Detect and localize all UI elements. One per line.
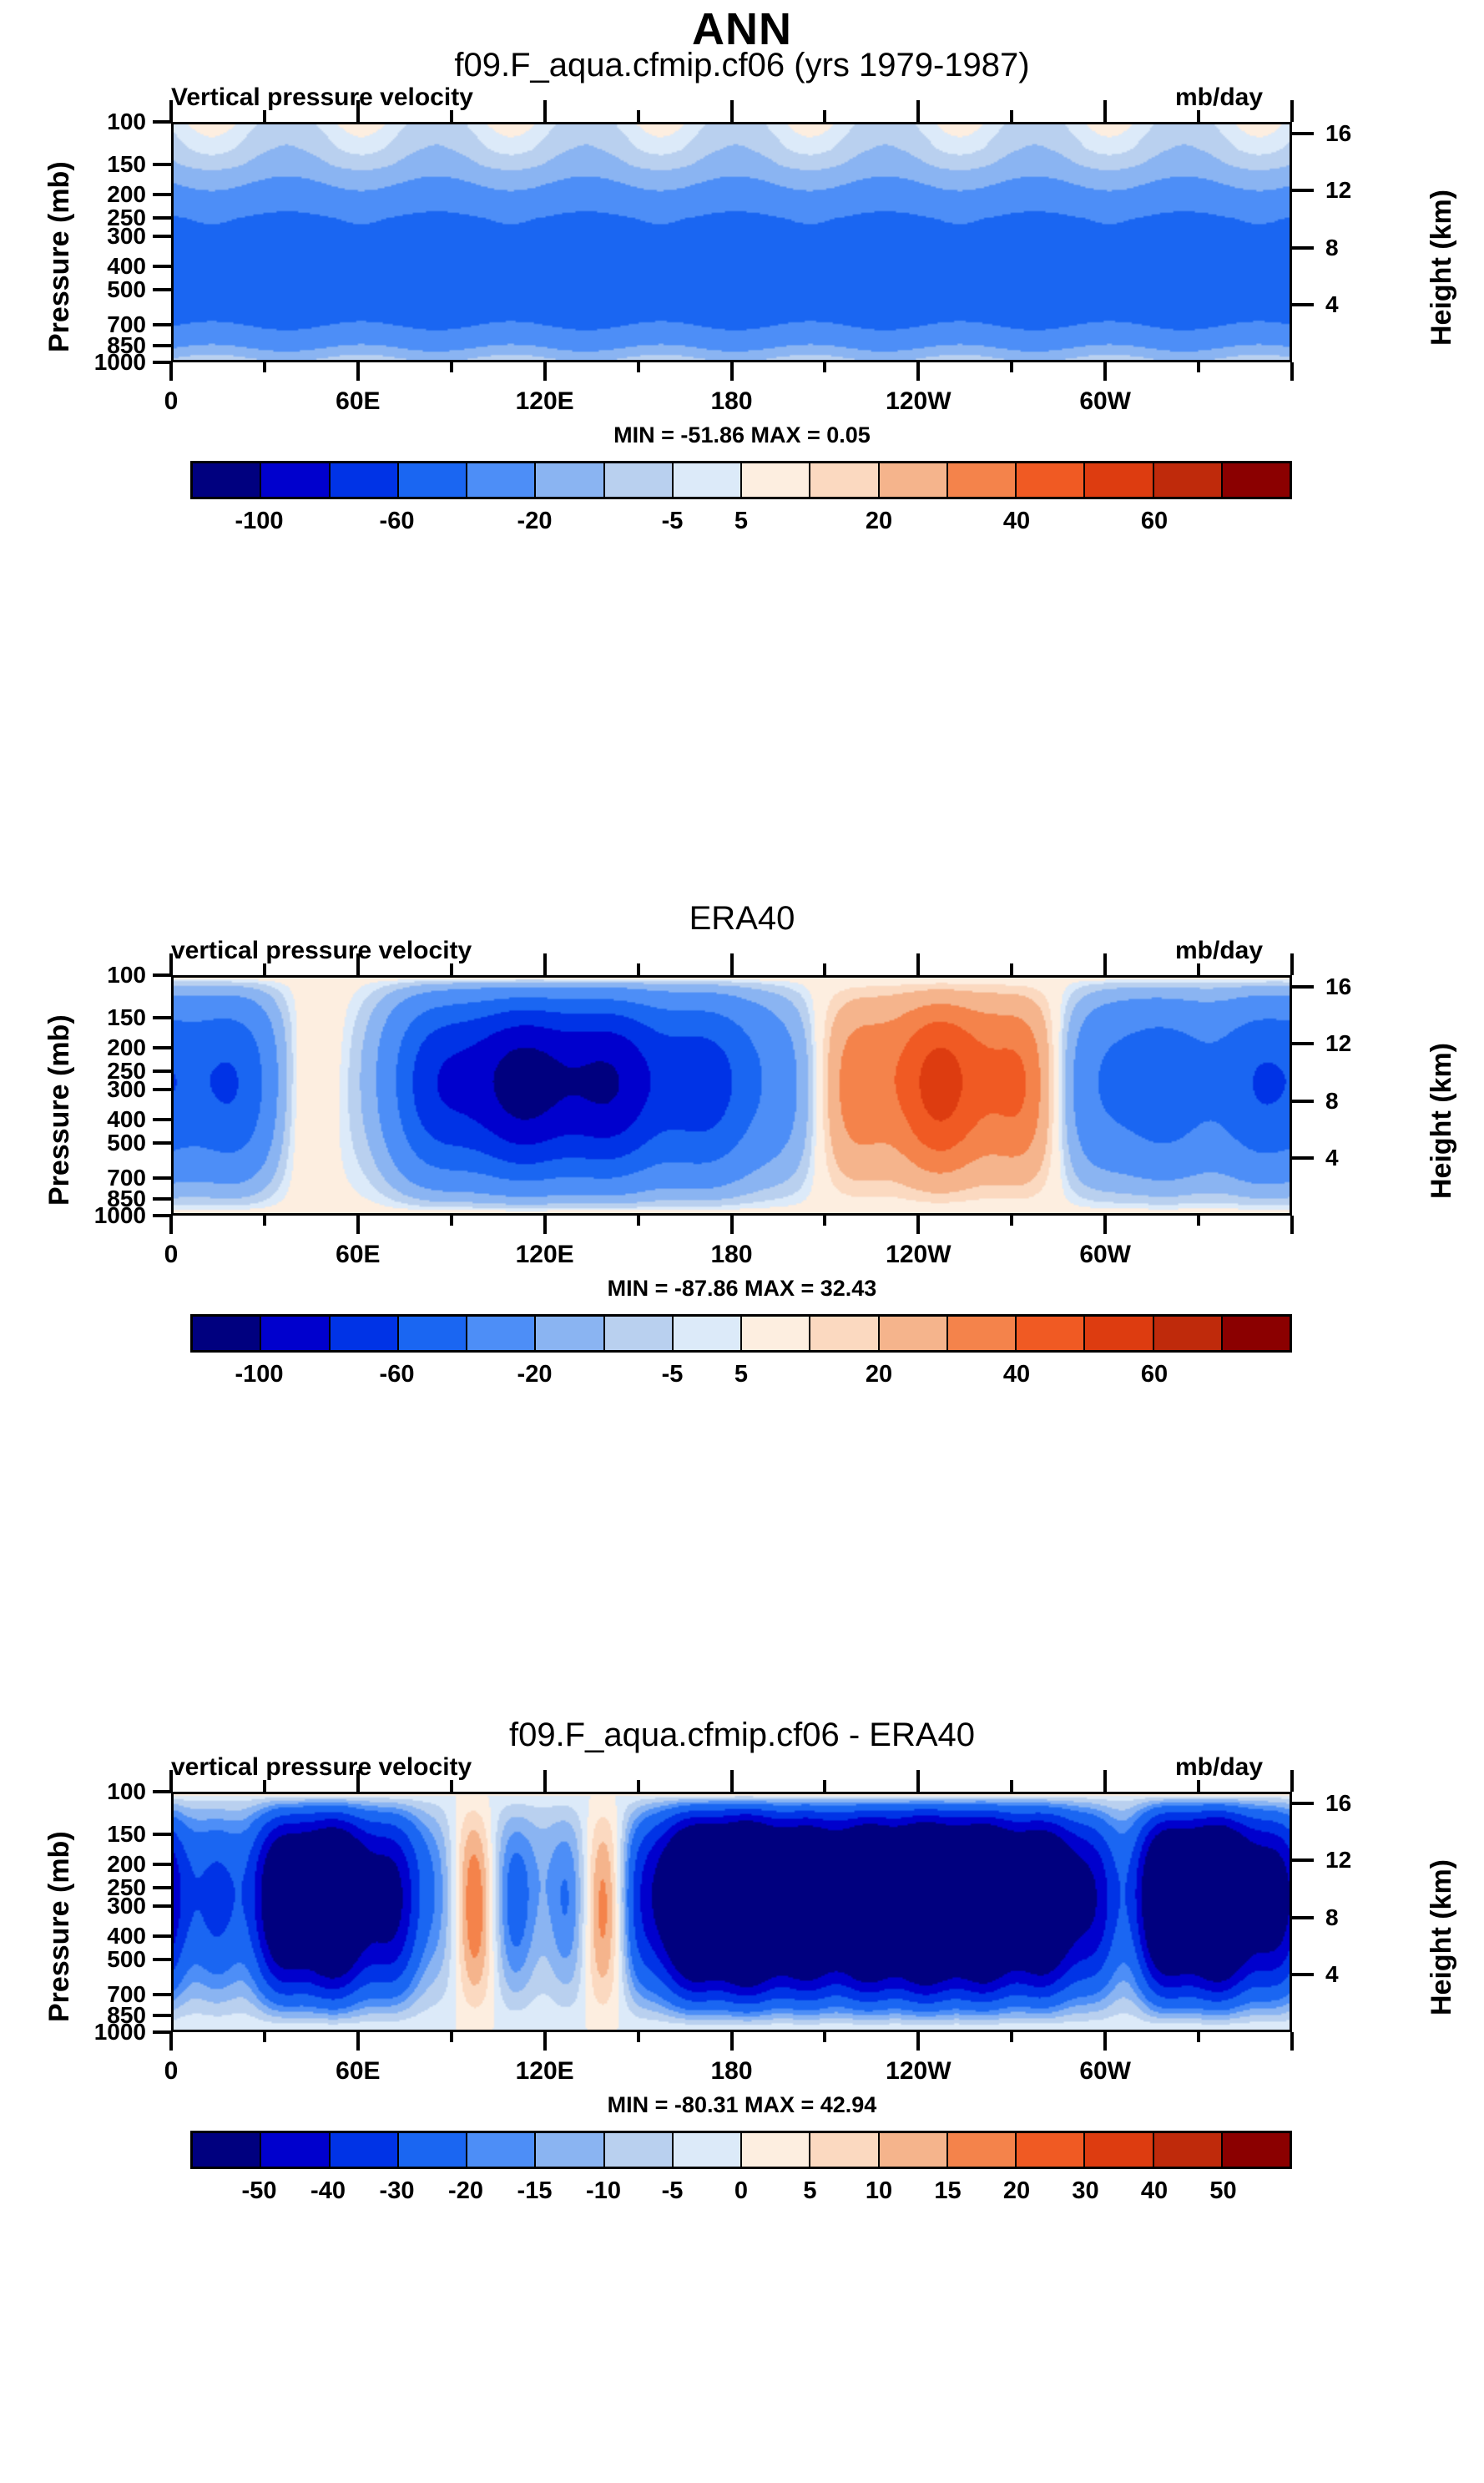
lon-tick-mark-top [263, 963, 266, 975]
lon-tick-mark-bottom [1290, 1216, 1294, 1234]
lon-tick-mark-top [450, 1780, 453, 1792]
lon-tick-mark-bottom [1010, 1216, 1013, 1226]
colorbar-tick-label: 15 [934, 2177, 961, 2205]
height-tick-mark [1292, 246, 1314, 250]
lon-tick-mark-bottom [823, 2032, 826, 2042]
lon-tick-mark-bottom [916, 1216, 920, 1234]
lon-tick-mark-top [263, 110, 266, 122]
lon-tick-mark-bottom [450, 2032, 453, 2042]
lon-tick-mark-top [730, 1770, 734, 1792]
colorbar-tick-label: 20 [866, 508, 892, 535]
colorbar-swatch [1154, 2133, 1223, 2167]
field-label: vertical pressure velocity [171, 1753, 472, 1782]
height-tick-mark [1292, 189, 1314, 192]
colorbar-swatch [742, 1317, 810, 1350]
panel-title: f09.F_aqua.cfmip.cf06 - ERA40 [0, 1717, 1484, 1754]
pressure-tick-mark [153, 1088, 171, 1091]
lon-tick-label: 120W [886, 2057, 951, 2086]
pressure-tick-mark [153, 1046, 171, 1049]
lon-tick-mark-top [916, 953, 920, 975]
colorbar-tick-label: 40 [1141, 2177, 1168, 2205]
right-axis-title: Height (km) [1426, 1859, 1458, 2015]
pressure-tick-mark [153, 1197, 171, 1201]
pressure-tick-mark [153, 344, 171, 347]
colorbar-swatch [331, 1317, 399, 1350]
left-axis-title: Pressure (mb) [43, 1015, 76, 1206]
lon-tick-mark-bottom [637, 1216, 640, 1226]
colorbar-swatch [467, 2133, 536, 2167]
colorbar-tick-label: 20 [1003, 2177, 1030, 2205]
colorbar-tick-label: 5 [734, 1361, 748, 1388]
lon-tick-mark-top [169, 1770, 173, 1792]
colorbar-tick-label: -100 [235, 508, 283, 535]
colorbar-tick-label: 40 [1003, 508, 1030, 535]
colorbar-tick-label: -5 [662, 1361, 684, 1388]
pressure-tick-mark [153, 973, 171, 977]
lon-tick-mark-bottom [730, 2032, 734, 2051]
lon-tick-mark-bottom [1010, 362, 1013, 372]
lon-tick-mark-bottom [450, 362, 453, 372]
lon-tick-mark-top [1197, 1780, 1200, 1792]
height-tick-mark [1292, 1973, 1314, 1976]
lon-tick-mark-bottom [637, 2032, 640, 2042]
pressure-tick-mark [153, 361, 171, 364]
colorbar-tick-label: 0 [734, 2177, 748, 2205]
colorbar-tick-label: 30 [1072, 2177, 1098, 2205]
colorbar-swatch [467, 463, 536, 497]
lon-tick-mark-top [543, 100, 547, 122]
pressure-tick-label: 1000 [38, 2019, 146, 2046]
lon-tick-label: 120E [516, 1241, 574, 1269]
lon-tick-mark-top [1010, 1780, 1013, 1792]
lon-tick-mark-top [1197, 110, 1200, 122]
pressure-tick-mark [153, 1958, 171, 1961]
lon-tick-label: 120E [516, 2057, 574, 2086]
lon-tick-mark-top [543, 953, 547, 975]
colorbar-tick-label: 60 [1141, 1361, 1168, 1388]
contour-plot-area [171, 1792, 1292, 2032]
colorbar-swatch [1223, 1317, 1290, 1350]
lon-tick-mark-bottom [1197, 2032, 1200, 2042]
colorbar-swatch [742, 463, 810, 497]
lon-tick-label: 180 [710, 387, 752, 416]
lon-tick-label: 180 [710, 2057, 752, 2086]
field-label: Vertical pressure velocity [171, 83, 473, 112]
colorbar-tick-label: 10 [866, 2177, 892, 2205]
lon-tick-label: 120E [516, 387, 574, 416]
lon-tick-mark-bottom [916, 2032, 920, 2051]
lon-tick-label: 60E [336, 1241, 380, 1269]
pressure-tick-mark [153, 193, 171, 196]
contour-plot-area [171, 975, 1292, 1216]
contour-plot-area [171, 122, 1292, 362]
colorbar-tick-label: -15 [517, 2177, 553, 2205]
colorbar-swatch [605, 463, 674, 497]
colorbar-swatch [880, 2133, 948, 2167]
lon-tick-mark-top [450, 110, 453, 122]
colorbar-swatch [880, 1317, 948, 1350]
colorbar-swatch [674, 2133, 742, 2167]
colorbar-swatch [810, 2133, 879, 2167]
lon-tick-mark-bottom [543, 362, 547, 381]
lon-tick-mark-bottom [356, 1216, 360, 1234]
lon-tick-label: 180 [710, 1241, 752, 1269]
lon-tick-label: 60W [1079, 1241, 1131, 1269]
colorbar-tick-label: 50 [1209, 2177, 1236, 2205]
lon-tick-mark-bottom [543, 2032, 547, 2051]
colorbar-swatch [399, 463, 467, 497]
lon-tick-label: 60W [1079, 2057, 1131, 2086]
lon-tick-mark-top [356, 100, 360, 122]
height-tick-mark [1292, 1100, 1314, 1103]
colorbar-swatch [1223, 463, 1290, 497]
height-tick-label: 16 [1325, 973, 1351, 1000]
colorbar-swatch [1017, 1317, 1085, 1350]
minmax-label: MIN = -51.86 MAX = 0.05 [0, 422, 1484, 448]
colorbar-swatch [536, 1317, 604, 1350]
lon-tick-mark-top [1103, 1770, 1107, 1792]
lon-tick-mark-bottom [1290, 362, 1294, 381]
pressure-tick-mark [153, 2030, 171, 2034]
lon-tick-mark-top [169, 100, 173, 122]
lon-tick-mark-bottom [356, 362, 360, 381]
colorbar-swatch [1017, 2133, 1085, 2167]
lon-tick-mark-bottom [169, 1216, 173, 1234]
lon-tick-mark-bottom [1197, 362, 1200, 372]
colorbar-swatch [399, 1317, 467, 1350]
colorbar-swatch [331, 463, 399, 497]
lon-tick-mark-bottom [263, 2032, 266, 2042]
colorbar-swatch [1085, 463, 1153, 497]
colorbar-swatch [1154, 463, 1223, 497]
lon-tick-mark-bottom [1010, 2032, 1013, 2042]
colorbar-swatch [674, 1317, 742, 1350]
colorbar-swatch [193, 463, 261, 497]
lon-tick-mark-bottom [450, 1216, 453, 1226]
colorbar-swatch [467, 1317, 536, 1350]
colorbar-swatch [605, 2133, 674, 2167]
pressure-tick-mark [153, 1904, 171, 1908]
pressure-tick-mark [153, 1886, 171, 1889]
lon-tick-mark-top [450, 963, 453, 975]
height-tick-label: 8 [1325, 1088, 1339, 1115]
colorbar-tick-label: -20 [517, 508, 553, 535]
left-axis-title: Pressure (mb) [43, 162, 76, 353]
lon-tick-mark-bottom [1290, 2032, 1294, 2051]
lon-tick-mark-top [637, 110, 640, 122]
height-tick-mark [1292, 1156, 1314, 1160]
colorbar [190, 461, 1292, 499]
height-tick-label: 16 [1325, 120, 1351, 147]
lon-tick-mark-top [1103, 953, 1107, 975]
colorbar-swatch [742, 2133, 810, 2167]
lon-tick-mark-top [1290, 1770, 1294, 1792]
height-tick-label: 12 [1325, 1847, 1351, 1874]
colorbar-swatch [605, 1317, 674, 1350]
height-tick-label: 16 [1325, 1790, 1351, 1817]
lon-tick-mark-top [823, 963, 826, 975]
colorbar-swatch [536, 463, 604, 497]
lon-tick-mark-bottom [823, 362, 826, 372]
pressure-tick-mark [153, 2014, 171, 2017]
colorbar-swatch [261, 463, 330, 497]
lon-tick-mark-bottom [1197, 1216, 1200, 1226]
lon-tick-mark-top [637, 963, 640, 975]
pressure-tick-mark [153, 216, 171, 220]
minmax-label: MIN = -80.31 MAX = 42.94 [0, 2092, 1484, 2118]
lon-tick-mark-top [730, 953, 734, 975]
colorbar-swatch [948, 463, 1017, 497]
colorbar-swatch [1017, 463, 1085, 497]
colorbar-swatch [1154, 1317, 1223, 1350]
height-tick-mark [1292, 1916, 1314, 1919]
lon-tick-mark-bottom [916, 362, 920, 381]
lon-tick-mark-bottom [263, 1216, 266, 1226]
pressure-tick-mark [153, 1176, 171, 1180]
lon-tick-mark-top [543, 1770, 547, 1792]
lon-tick-mark-top [730, 100, 734, 122]
lon-tick-mark-bottom [730, 362, 734, 381]
lon-tick-mark-bottom [356, 2032, 360, 2051]
height-tick-label: 4 [1325, 1145, 1339, 1171]
lon-tick-mark-top [169, 953, 173, 975]
colorbar-tick-label: -100 [235, 1361, 283, 1388]
pressure-tick-mark [153, 1118, 171, 1121]
colorbar-swatch [331, 2133, 399, 2167]
colorbar-tick-label: 20 [866, 1361, 892, 1388]
pressure-tick-mark [153, 288, 171, 291]
pressure-tick-mark [153, 120, 171, 124]
colorbar-swatch [1223, 2133, 1290, 2167]
pressure-tick-mark [153, 1863, 171, 1866]
lon-tick-label: 120W [886, 1241, 951, 1269]
lon-tick-mark-bottom [823, 1216, 826, 1226]
height-tick-label: 12 [1325, 1030, 1351, 1057]
height-tick-label: 12 [1325, 177, 1351, 204]
colorbar-swatch [536, 2133, 604, 2167]
colorbar-tick-label: -20 [448, 2177, 483, 2205]
colorbar-tick-label: -5 [662, 2177, 684, 2205]
pressure-tick-label: 100 [38, 1778, 146, 1805]
lon-tick-mark-top [263, 1780, 266, 1792]
panel-title: ERA40 [0, 900, 1484, 938]
left-axis-title: Pressure (mb) [43, 1832, 76, 2023]
lon-tick-label: 0 [164, 2057, 179, 2086]
lon-tick-mark-bottom [1103, 362, 1107, 381]
lon-tick-mark-top [1010, 110, 1013, 122]
colorbar-tick-label: -60 [380, 1361, 415, 1388]
right-axis-title: Height (km) [1426, 190, 1458, 346]
lon-tick-label: 60E [336, 2057, 380, 2086]
colorbar-tick-label: -40 [310, 2177, 346, 2205]
lon-tick-mark-bottom [730, 1216, 734, 1234]
lon-tick-mark-top [1010, 963, 1013, 975]
colorbar-swatch [810, 463, 879, 497]
colorbar [190, 1314, 1292, 1353]
pressure-tick-mark [153, 235, 171, 238]
lon-tick-mark-top [916, 100, 920, 122]
colorbar-tick-label: 40 [1003, 1361, 1030, 1388]
height-tick-label: 8 [1325, 1904, 1339, 1931]
lon-tick-mark-top [1197, 963, 1200, 975]
units-label: mb/day [1175, 937, 1263, 965]
colorbar-tick-label: 60 [1141, 508, 1168, 535]
pressure-tick-mark [153, 1016, 171, 1019]
pressure-tick-label: 100 [38, 962, 146, 989]
pressure-tick-mark [153, 1214, 171, 1217]
pressure-tick-label: 1000 [38, 349, 146, 376]
lon-tick-label: 0 [164, 1241, 179, 1269]
colorbar-swatch [674, 463, 742, 497]
colorbar-swatch [948, 2133, 1017, 2167]
lon-tick-mark-top [916, 1770, 920, 1792]
colorbar-tick-label: 5 [734, 508, 748, 535]
height-tick-mark [1292, 1858, 1314, 1862]
lon-tick-mark-bottom [637, 362, 640, 372]
colorbar-tick-label: -10 [586, 2177, 621, 2205]
pressure-tick-mark [153, 1141, 171, 1145]
panel-title: f09.F_aqua.cfmip.cf06 (yrs 1979-1987) [0, 47, 1484, 84]
lon-tick-label: 0 [164, 387, 179, 416]
colorbar-swatch [399, 2133, 467, 2167]
height-tick-mark [1292, 303, 1314, 306]
lon-tick-mark-top [637, 1780, 640, 1792]
lon-tick-mark-top [1290, 953, 1294, 975]
colorbar-swatch [948, 1317, 1017, 1350]
height-tick-label: 4 [1325, 1961, 1339, 1988]
height-tick-mark [1292, 985, 1314, 989]
lon-tick-mark-top [1290, 100, 1294, 122]
lon-tick-label: 60E [336, 387, 380, 416]
colorbar-swatch [810, 1317, 879, 1350]
lon-tick-label: 60W [1079, 387, 1131, 416]
height-tick-label: 8 [1325, 235, 1339, 261]
colorbar-tick-label: -60 [380, 508, 415, 535]
lon-tick-mark-top [356, 953, 360, 975]
pressure-tick-label: 1000 [38, 1202, 146, 1229]
colorbar-tick-label: 5 [803, 2177, 816, 2205]
height-tick-label: 4 [1325, 291, 1339, 318]
pressure-tick-mark [153, 1790, 171, 1793]
colorbar-swatch [261, 2133, 330, 2167]
pressure-tick-mark [153, 1993, 171, 1996]
colorbar-swatch [193, 1317, 261, 1350]
colorbar-tick-label: -30 [380, 2177, 415, 2205]
colorbar-swatch [1085, 2133, 1153, 2167]
lon-tick-mark-top [823, 110, 826, 122]
pressure-tick-mark [153, 265, 171, 268]
lon-tick-mark-bottom [1103, 2032, 1107, 2051]
colorbar-swatch [193, 2133, 261, 2167]
colorbar-tick-label: -20 [517, 1361, 553, 1388]
pressure-tick-mark [153, 323, 171, 326]
units-label: mb/day [1175, 1753, 1263, 1782]
lon-tick-mark-bottom [543, 1216, 547, 1234]
pressure-tick-mark [153, 1833, 171, 1836]
colorbar-swatch [880, 463, 948, 497]
lon-tick-mark-top [356, 1770, 360, 1792]
height-tick-mark [1292, 1802, 1314, 1805]
lon-tick-mark-bottom [1103, 1216, 1107, 1234]
pressure-tick-mark [153, 163, 171, 166]
lon-tick-mark-top [1103, 100, 1107, 122]
height-tick-mark [1292, 132, 1314, 135]
pressure-tick-label: 100 [38, 109, 146, 135]
lon-tick-mark-top [823, 1780, 826, 1792]
pressure-tick-mark [153, 1070, 171, 1073]
colorbar-swatch [1085, 1317, 1153, 1350]
colorbar-tick-label: -50 [242, 2177, 277, 2205]
height-tick-mark [1292, 1042, 1314, 1045]
field-label: vertical pressure velocity [171, 937, 472, 965]
lon-tick-mark-bottom [169, 362, 173, 381]
colorbar [190, 2131, 1292, 2169]
colorbar-swatch [261, 1317, 330, 1350]
right-axis-title: Height (km) [1426, 1043, 1458, 1199]
lon-tick-mark-bottom [263, 362, 266, 372]
pressure-tick-mark [153, 1934, 171, 1938]
minmax-label: MIN = -87.86 MAX = 32.43 [0, 1276, 1484, 1302]
units-label: mb/day [1175, 83, 1263, 112]
lon-tick-mark-bottom [169, 2032, 173, 2051]
colorbar-tick-label: -5 [662, 508, 684, 535]
lon-tick-label: 120W [886, 387, 951, 416]
